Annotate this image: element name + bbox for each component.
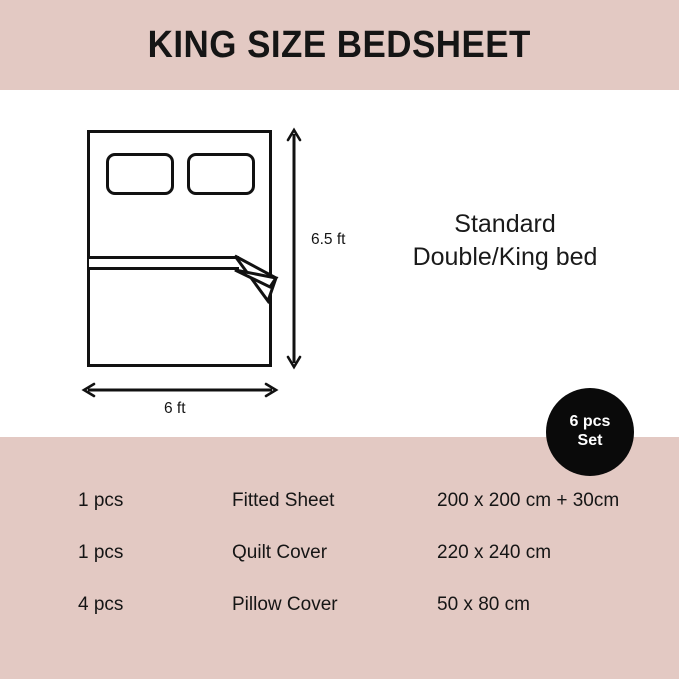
spec-quantity: 1 pcs bbox=[78, 490, 123, 512]
table-row: 1 pcs Quilt Cover 220 x 240 cm bbox=[0, 527, 679, 579]
bed-type-caption: Standard Double/King bed bbox=[375, 208, 635, 274]
blanket-top-edge bbox=[89, 256, 239, 270]
spec-item-name: Pillow Cover bbox=[232, 594, 338, 616]
pieces-count-badge-line-1: 6 pcs bbox=[570, 413, 611, 432]
bed-type-caption-line-2: Double/King bed bbox=[375, 241, 635, 274]
bed-outline bbox=[87, 130, 272, 367]
pillow-right bbox=[187, 153, 255, 195]
table-row: 1 pcs Fitted Sheet 200 x 200 cm + 30cm bbox=[0, 475, 679, 527]
height-dimension-label: 6.5 ft bbox=[311, 231, 345, 249]
product-size-guide: KING SIZE BEDSHEET 6.5 ft 6 ft bbox=[0, 0, 679, 679]
spec-item-name: Quilt Cover bbox=[232, 542, 327, 564]
spec-quantity: 4 pcs bbox=[78, 594, 123, 616]
header-banner: KING SIZE BEDSHEET bbox=[0, 0, 679, 90]
table-row: 4 pcs Pillow Cover 50 x 80 cm bbox=[0, 579, 679, 631]
spec-item-name: Fitted Sheet bbox=[232, 490, 334, 512]
blanket-folded-corner-icon bbox=[230, 251, 290, 313]
pieces-count-badge: 6 pcs Set bbox=[546, 388, 634, 476]
spec-dimensions: 220 x 240 cm bbox=[437, 542, 551, 564]
width-dimension-arrow-icon bbox=[80, 380, 280, 400]
width-dimension-label: 6 ft bbox=[164, 400, 186, 418]
height-dimension-arrow-icon bbox=[283, 126, 305, 371]
page-title: KING SIZE BEDSHEET bbox=[148, 24, 531, 67]
bed-type-caption-line-1: Standard bbox=[375, 208, 635, 241]
spec-dimensions: 200 x 200 cm + 30cm bbox=[437, 490, 619, 512]
bed-diagram-section: 6.5 ft 6 ft Standard Double/King bed bbox=[0, 90, 679, 437]
spec-dimensions: 50 x 80 cm bbox=[437, 594, 530, 616]
pillow-left bbox=[106, 153, 174, 195]
spec-quantity: 1 pcs bbox=[78, 542, 123, 564]
pieces-count-badge-line-2: Set bbox=[578, 432, 603, 451]
